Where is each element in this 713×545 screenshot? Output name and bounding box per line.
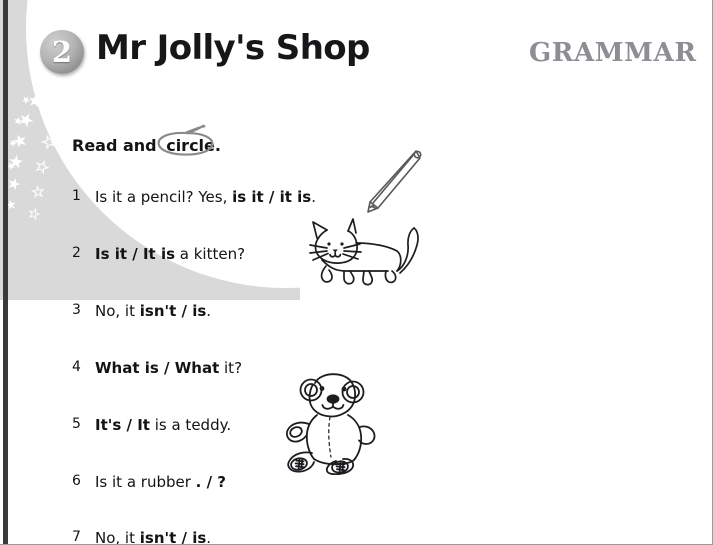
- exercise-plain-text: it?: [219, 359, 242, 377]
- exercise-choice-text[interactable]: What is / What: [95, 359, 219, 377]
- pencil-illustration: [358, 146, 426, 218]
- exercise-plain-text: .: [311, 188, 316, 206]
- page-title: Mr Jolly's Shop: [96, 28, 370, 68]
- exercise-sentence: Is it a rubber . / ?: [95, 473, 226, 491]
- exercise-plain-text: is a teddy.: [150, 416, 231, 434]
- left-spine-bar: [3, 0, 8, 545]
- instruction-lead: Read and: [72, 136, 162, 155]
- exercise-sentence: It's / It is a teddy.: [95, 416, 231, 434]
- exercise-number: 7: [72, 529, 81, 545]
- exercise-plain-text: No, it: [95, 302, 140, 320]
- exercise-sentence: What is / What it?: [95, 359, 242, 377]
- exercise-sentence: Is it a pencil? Yes, is it / it is.: [95, 188, 316, 206]
- exercise-sentence: No, it isn't / is.: [95, 302, 211, 320]
- circled-word-text: circle.: [166, 136, 221, 155]
- instruction-line: Read and circle.: [72, 136, 225, 155]
- exercise-number: 2: [72, 245, 92, 261]
- exercise-choice-text[interactable]: . / ?: [196, 473, 226, 491]
- exercise-plain-text: Is it a rubber: [95, 473, 196, 491]
- exercise-number: 3: [72, 302, 92, 318]
- exercise-item: 2Is it / It is a kitten?: [72, 245, 502, 302]
- kitten-illustration: [296, 216, 430, 290]
- exercise-choice-text[interactable]: Is it / It is: [95, 245, 175, 263]
- exercise-list: 1Is it a pencil? Yes, is it / it is.2Is …: [72, 188, 502, 530]
- exercise-plain-text: .: [206, 529, 211, 545]
- exercise-sentence: Is it / It is a kitten?: [95, 245, 245, 263]
- circled-word: circle.: [162, 136, 225, 155]
- exercise-number: 4: [72, 359, 92, 375]
- exercise-number: 5: [72, 416, 92, 432]
- teddy-bear-illustration: [272, 371, 380, 475]
- worksheet-page: 2 Mr Jolly's Shop GRAMMAR Read and circl…: [0, 0, 713, 545]
- exercise-item: 3No, it isn't / is.: [72, 302, 502, 359]
- section-label: GRAMMAR: [529, 38, 697, 68]
- exercise-sentence: No, it isn't / is.: [95, 529, 211, 545]
- exercise-item: 6Is it a rubber . / ?: [72, 473, 502, 530]
- exercise-plain-text: a kitten?: [175, 245, 245, 263]
- exercise-choice-text[interactable]: is it / it is: [232, 188, 311, 206]
- exercise-plain-text: No, it: [95, 529, 140, 545]
- exercise-choice-text[interactable]: isn't / is: [140, 529, 207, 545]
- exercise-plain-text: .: [206, 302, 211, 320]
- exercise-choice-text[interactable]: It's / It: [95, 416, 150, 434]
- unit-number-badge: 2: [40, 30, 84, 74]
- exercise-number: 6: [72, 473, 92, 489]
- exercise-number: 1: [72, 188, 92, 204]
- exercise-item: 1Is it a pencil? Yes, is it / it is.: [72, 188, 502, 245]
- exercise-choice-text[interactable]: isn't / is: [140, 302, 207, 320]
- exercise-plain-text: Is it a pencil? Yes,: [95, 188, 232, 206]
- clipped-exercise-row: 7No, it isn't / is.: [72, 529, 502, 545]
